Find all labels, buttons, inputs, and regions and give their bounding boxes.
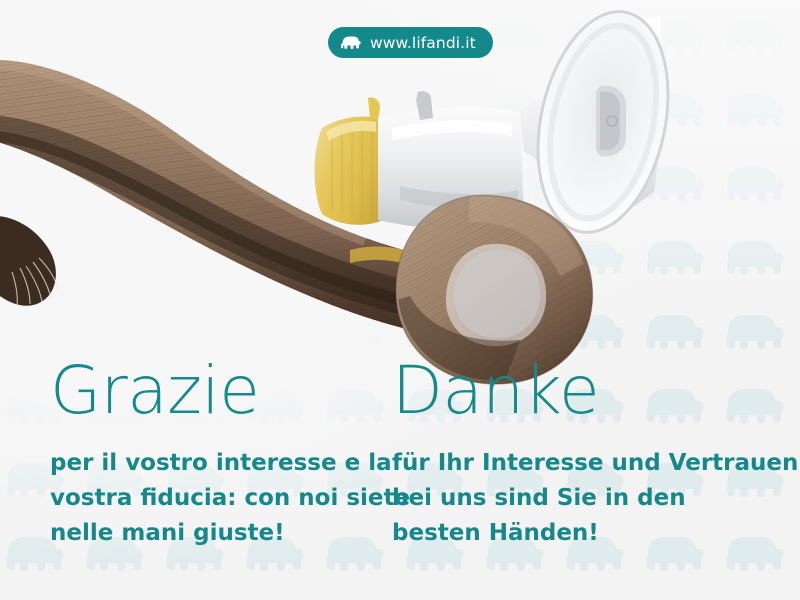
body-italian-line-3: nelle mani giuste!	[50, 516, 380, 551]
text-columns: Grazie per il vostro interesse e la vost…	[0, 0, 800, 600]
body-italian-line-1: per il vostro interesse e la	[50, 446, 380, 481]
body-italian: per il vostro interesse e la vostra fidu…	[50, 446, 380, 551]
column-italian: Grazie per il vostro interesse e la vost…	[50, 358, 380, 551]
body-german-line-3: besten Händen!	[392, 516, 792, 551]
body-italian-line-2: vostra fiducia: con noi siete	[50, 481, 380, 516]
thank-you-poster: #a88a72	[0, 0, 800, 600]
body-german: für Ihr Interesse und Vertrauen – bei un…	[392, 446, 792, 551]
body-german-line-1: für Ihr Interesse und Vertrauen –	[392, 446, 792, 481]
column-german: Danke für Ihr Interesse und Vertrauen – …	[392, 358, 792, 551]
headline-italian: Grazie	[50, 358, 380, 424]
body-german-line-2: bei uns sind Sie in den	[392, 481, 792, 516]
headline-german: Danke	[392, 358, 792, 424]
